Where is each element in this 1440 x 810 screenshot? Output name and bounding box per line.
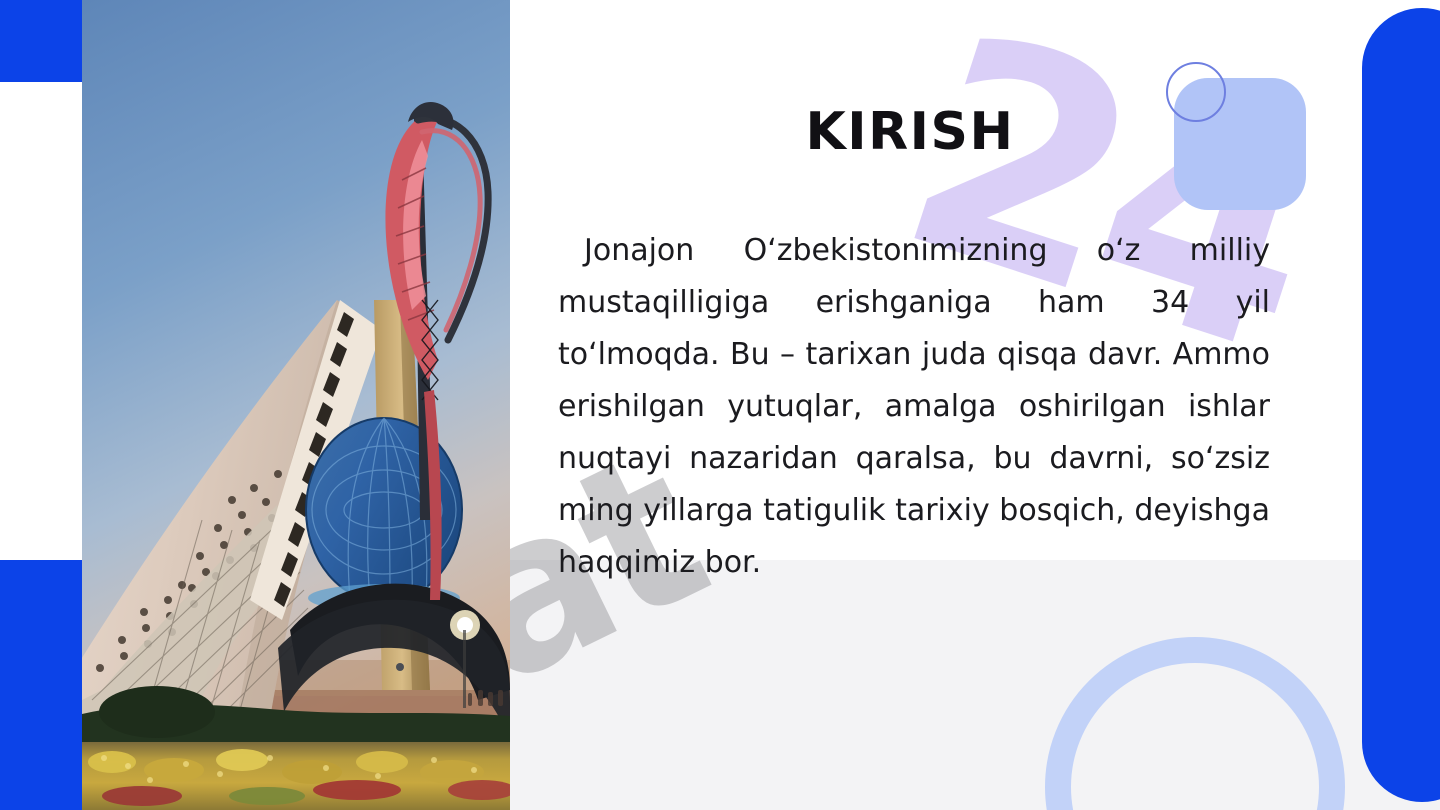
photo-illustration	[82, 0, 510, 810]
independence-monument-photo	[82, 0, 510, 810]
slide-title: KIRISH	[540, 102, 1280, 162]
text-column: KIRISH Jonajon O‘zbekistonimizning o‘z m…	[540, 0, 1280, 810]
left-accent-bar-bottom	[0, 560, 82, 810]
right-accent-pill	[1362, 8, 1440, 802]
slide-body-paragraph: Jonajon O‘zbekistonimizning o‘z milliy m…	[558, 225, 1270, 589]
slide-root: 24 hujjat	[0, 0, 1440, 810]
left-accent-bar-top	[0, 0, 82, 82]
